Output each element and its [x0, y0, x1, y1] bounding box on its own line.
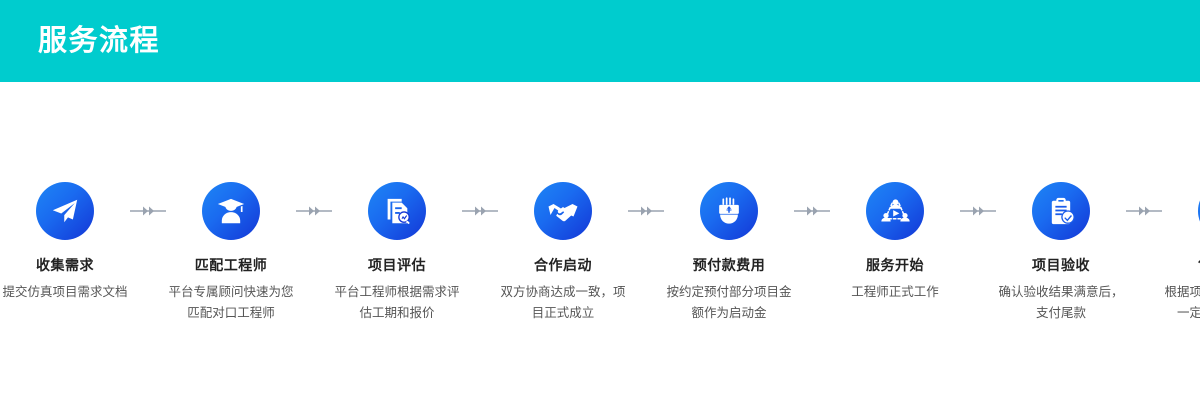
step-icon-circle-3[interactable]	[368, 182, 426, 240]
double-chevron-right-icon	[296, 205, 332, 217]
step-icon-circle-5[interactable]	[700, 182, 758, 240]
step-icon-circle-7[interactable]	[1032, 182, 1090, 240]
step-title-2: 匹配工程师	[195, 255, 268, 275]
connector-4	[628, 182, 664, 240]
process-flow: 收集需求 提交仿真项目需求文档	[0, 82, 1200, 400]
process-step-2[interactable]: 匹配工程师 平台专属顾问快速为您匹配对口工程师	[166, 182, 296, 324]
step-desc-3: 平台工程师根据需求评估工期和报价	[333, 282, 461, 324]
document-search-icon	[382, 196, 412, 226]
double-chevron-right-icon	[794, 205, 830, 217]
step-icon-circle-2[interactable]	[202, 182, 260, 240]
connector-3	[462, 182, 498, 240]
hand-yuan-payment-icon	[714, 196, 744, 226]
connector-5	[794, 182, 830, 240]
process-step-7[interactable]: 项目验收 确认验收结果满意后，支付尾款	[996, 182, 1126, 324]
step-icon-circle-6[interactable]	[866, 182, 924, 240]
step-title-6: 服务开始	[866, 255, 924, 275]
step-title-1: 收集需求	[36, 255, 94, 275]
connector-1	[130, 182, 166, 240]
process-step-3[interactable]: 项目评估 平台工程师根据需求评估工期和报价	[332, 182, 462, 324]
step-title-7: 项目验收	[1032, 255, 1090, 275]
double-chevron-right-icon	[628, 205, 664, 217]
step-desc-8: 根据项目情况，可进行一定周期内的答疑	[1163, 282, 1200, 324]
connector-6	[960, 182, 996, 240]
graduate-engineer-icon	[216, 196, 246, 226]
process-step-8[interactable]: 评 售后答疑 根据项目情况，可进行一定周期内的答疑	[1162, 182, 1200, 324]
step-desc-5: 按约定预付部分项目金额作为启动金	[665, 282, 793, 324]
double-chevron-right-icon	[960, 205, 996, 217]
paper-plane-icon	[50, 196, 80, 226]
clipboard-check-icon	[1046, 196, 1076, 226]
step-title-4: 合作启动	[534, 255, 592, 275]
step-desc-1: 提交仿真项目需求文档	[1, 282, 129, 303]
step-title-3: 项目评估	[368, 255, 426, 275]
double-chevron-right-icon	[130, 205, 166, 217]
step-desc-6: 工程师正式工作	[831, 282, 959, 303]
step-icon-circle-4[interactable]	[534, 182, 592, 240]
process-step-1[interactable]: 收集需求 提交仿真项目需求文档	[0, 182, 130, 303]
process-step-4[interactable]: 合作启动 双方协商达成一致，项目正式成立	[498, 182, 628, 324]
connector-2	[296, 182, 332, 240]
step-desc-7: 确认验收结果满意后，支付尾款	[997, 282, 1125, 324]
double-chevron-right-icon	[1126, 205, 1162, 217]
team-network-play-icon	[880, 196, 911, 227]
step-icon-circle-1[interactable]	[36, 182, 94, 240]
step-desc-4: 双方协商达成一致，项目正式成立	[499, 282, 627, 324]
page-title: 服务流程	[38, 21, 160, 61]
process-step-5[interactable]: 预付款费用 按约定预付部分项目金额作为启动金	[664, 182, 794, 324]
double-chevron-right-icon	[462, 205, 498, 217]
connector-7	[1126, 182, 1162, 240]
process-step-6[interactable]: 服务开始 工程师正式工作	[830, 182, 960, 303]
service-process-page: 服务流程 收集需求 提交仿真项目需求文档	[0, 0, 1200, 400]
handshake-icon	[547, 195, 579, 227]
step-title-5: 预付款费用	[693, 255, 766, 275]
page-header-band: 服务流程	[0, 0, 1200, 82]
step-desc-2: 平台专属顾问快速为您匹配对口工程师	[167, 282, 295, 324]
